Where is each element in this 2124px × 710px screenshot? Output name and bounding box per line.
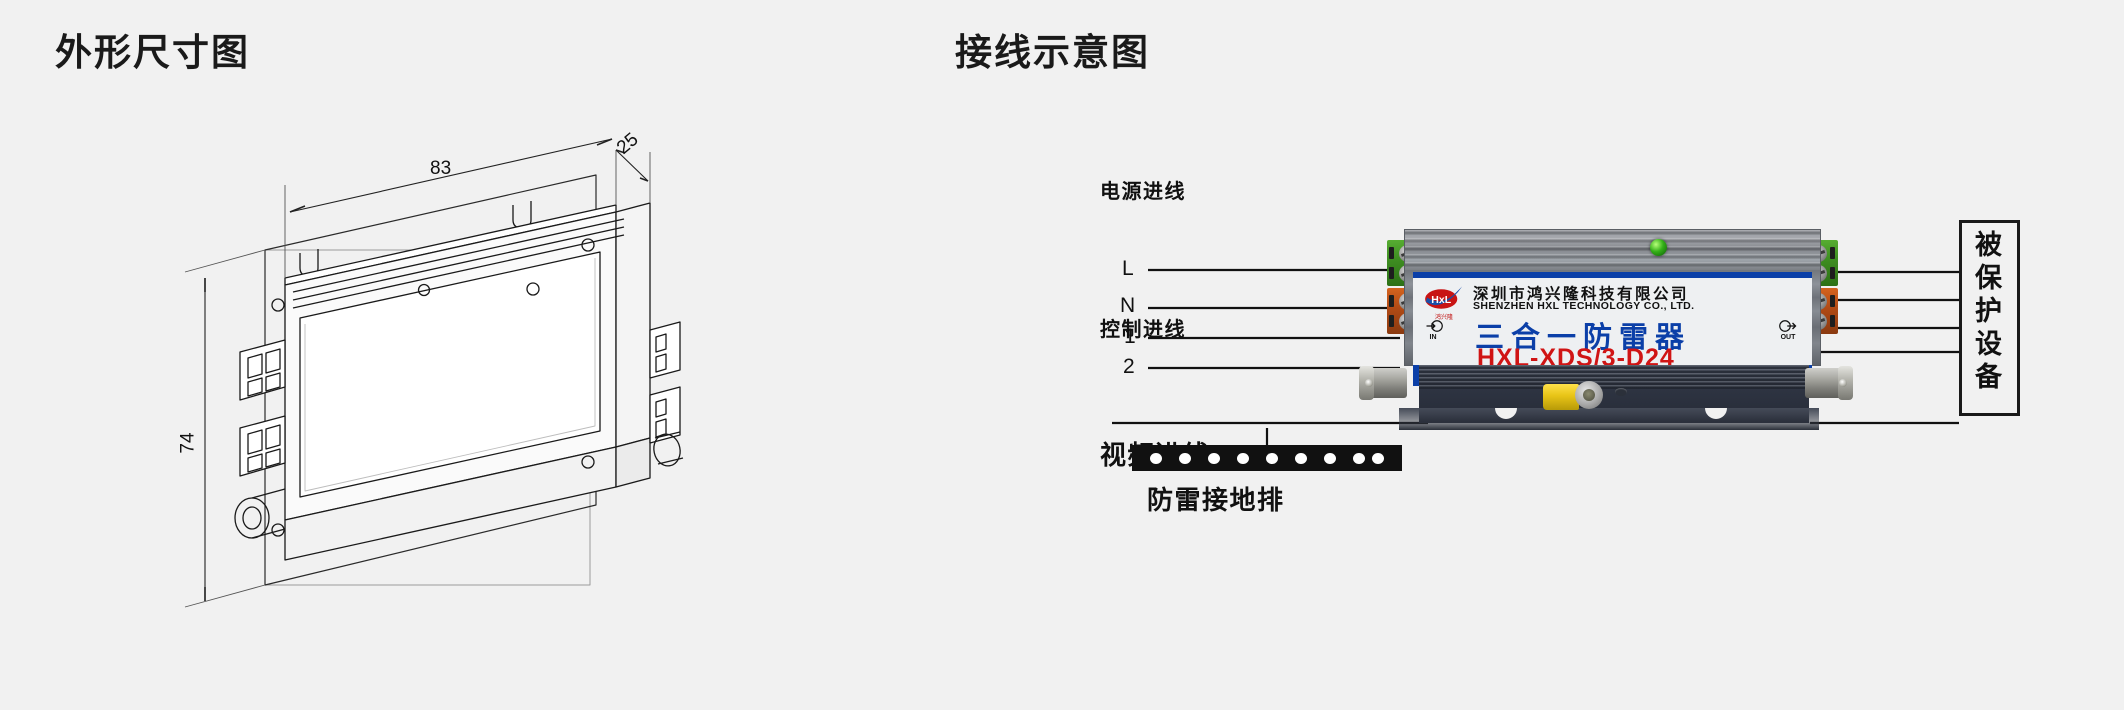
bnc-connector-in [1363, 368, 1407, 398]
callout-control-input: 控制进线 [1100, 313, 1186, 342]
svg-text:HxL: HxL [1431, 294, 1451, 306]
heatsink-fins [1405, 230, 1820, 270]
pin-label-L: L [1122, 257, 1134, 281]
pin-label-2: 2 [1123, 355, 1135, 379]
hxl-logo-icon: HxL [1423, 283, 1465, 315]
pin-label-N: N [1120, 294, 1135, 318]
pin-label-1: 1 [1124, 325, 1136, 349]
chassis-screw [1615, 388, 1627, 396]
arrow-out-icon [1779, 320, 1797, 332]
outline-dimension-panel: 外形尺寸图 [0, 0, 950, 710]
device-label-plate: HxL 鸿兴隆 深圳市鸿兴隆科技有限公司 SHENZHEN HXL TECHNO… [1413, 272, 1812, 377]
status-led-indicator [1650, 239, 1667, 256]
lower-chassis-fins [1419, 365, 1809, 389]
dimension-label-width: 83 [430, 158, 451, 180]
outline-drawing-svg [0, 0, 950, 710]
wiring-diagram-panel: 接线示意图 电源进线 控制进线 视频进线 L N 1 2 [950, 0, 2124, 710]
protected-device-box: 被保护设备 [1959, 220, 2020, 416]
bnc-connector-out [1805, 368, 1849, 398]
ground-screw-head [1583, 389, 1595, 401]
dimension-label-height: 74 [178, 432, 200, 453]
device-housing: HxL 鸿兴隆 深圳市鸿兴隆科技有限公司 SHENZHEN HXL TECHNO… [1405, 230, 1820, 365]
company-name-en: SHENZHEN HXL TECHNOLOGY CO., LTD. [1473, 300, 1694, 312]
surge-protector-device: HxL 鸿兴隆 深圳市鸿兴隆科技有限公司 SHENZHEN HXL TECHNO… [1405, 230, 1820, 430]
lightning-ground-bar [1132, 445, 1402, 471]
callout-ground-bar: 防雷接地排 [1147, 480, 1285, 517]
in-label: IN [1422, 334, 1444, 341]
device-mounting-foot [1399, 408, 1819, 430]
out-label: OUT [1777, 334, 1799, 341]
ground-ring-terminal [1543, 384, 1579, 410]
protected-device-label: 被保护设备 [1972, 230, 1999, 395]
arrow-in-icon [1425, 320, 1443, 332]
callout-power-input: 电源进线 [1100, 175, 1186, 204]
